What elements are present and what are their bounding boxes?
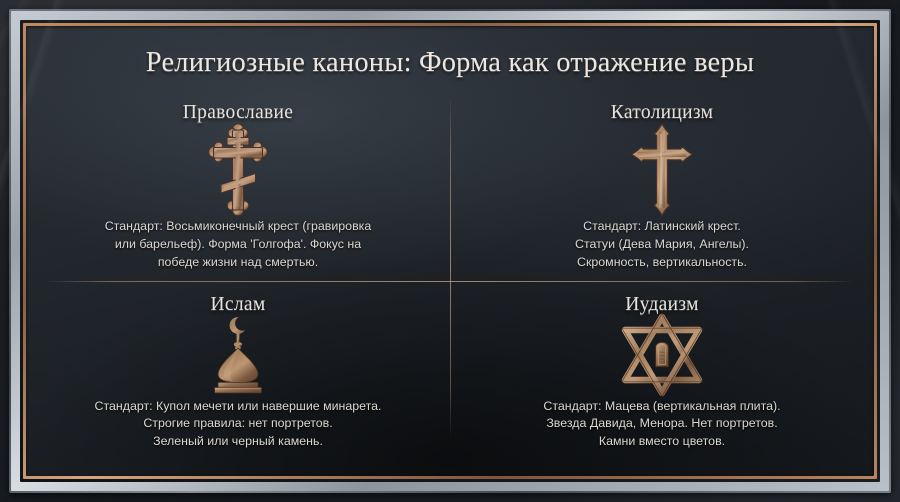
star-of-david-matzevah-icon bbox=[616, 312, 708, 398]
quadrant-judaism: Иудаизм bbox=[450, 280, 874, 472]
page-title: Религиозные каноны: Форма как отражение … bbox=[26, 47, 874, 79]
frame-outer-rim: Религиозные каноны: Форма как отражение … bbox=[9, 9, 891, 493]
content-panel: Религиозные каноны: Форма как отражение … bbox=[26, 26, 874, 476]
mosque-dome-crescent-icon bbox=[195, 314, 281, 396]
quadrant-body-islam: Стандарт: Купол мечети или навершие мина… bbox=[95, 398, 382, 452]
quadrant-body-judaism: Стандарт: Мацева (вертикальная плита). З… bbox=[543, 398, 780, 452]
quadrant-body-catholicism: Стандарт: Латинский крест. Статуи (Дева … bbox=[575, 218, 749, 272]
icon-slot-orthodoxy bbox=[52, 122, 424, 218]
frame-inner-shadow: Религиозные каноны: Форма как отражение … bbox=[20, 20, 880, 482]
latin-cross-icon bbox=[629, 122, 695, 218]
quadrant-orthodoxy: Православие bbox=[26, 92, 450, 280]
frame-copper-pinstripe: Религиозные каноны: Форма как отражение … bbox=[23, 23, 877, 479]
icon-slot-islam bbox=[52, 312, 424, 398]
orthodox-cross-icon bbox=[201, 122, 275, 218]
quadrant-heading-orthodoxy: Православие bbox=[183, 102, 293, 124]
quadrant-islam: Ислам bbox=[26, 280, 450, 472]
frame-silver-bevel: Религиозные каноны: Форма как отражение … bbox=[11, 11, 889, 491]
slide-stage: Религиозные каноны: Форма как отражение … bbox=[0, 0, 900, 502]
icon-slot-judaism bbox=[476, 312, 848, 398]
quadrant-heading-catholicism: Католицизм bbox=[611, 102, 713, 124]
quadrant-body-orthodoxy: Стандарт: Восьмиконечный крест (гравиров… bbox=[105, 218, 372, 272]
quadrant-grid: Православие bbox=[26, 92, 874, 470]
quadrant-catholicism: Католицизм bbox=[450, 92, 874, 280]
icon-slot-catholicism bbox=[476, 122, 848, 218]
